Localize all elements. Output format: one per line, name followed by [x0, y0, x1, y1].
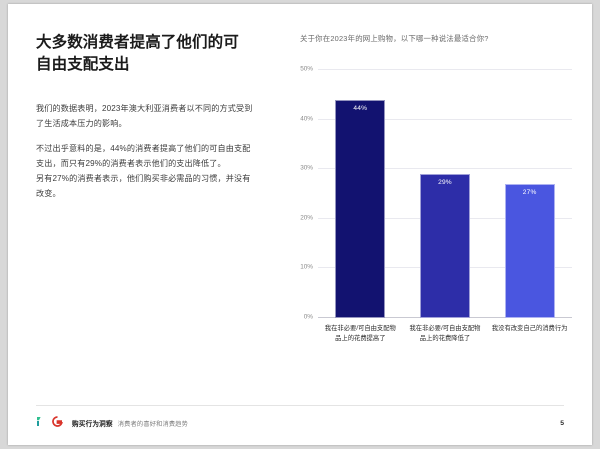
bar-series: 44% 29% 27%	[318, 70, 572, 318]
bar-value-3: 27%	[506, 189, 554, 196]
footer: 购买行为洞察 消费者的喜好和消费趋势 5	[8, 405, 592, 445]
page-number: 5	[560, 420, 564, 427]
bar-value-1: 44%	[336, 105, 384, 112]
footer-divider	[36, 405, 564, 406]
ytick-label-30: 30%	[300, 165, 313, 172]
bar-slot-1: 44%	[318, 70, 403, 318]
left-text-column: 大多数消费者提高了他们的可自由支配支出 我们的数据表明，2023年澳大利亚消费者…	[36, 32, 264, 212]
chart-column: 关于你在2023年的网上购物，以下哪一种说法最适合你? 50% 40% 30% …	[290, 34, 576, 394]
plot-area: 50% 40% 30% 20% 10% 0%	[318, 70, 572, 318]
bar-chart: 50% 40% 30% 20% 10% 0%	[290, 62, 576, 372]
paragraph-2: 不过出乎意料的是，44%的消费者提高了他们的可自由支配支出，而只有29%的消费者…	[36, 142, 255, 171]
bar-increased-spend[interactable]: 44%	[335, 100, 385, 318]
xlabel-2: 我在非必要/可自由支配物品上的花费降低了	[403, 324, 488, 344]
xlabel-1: 我在非必要/可自由支配物品上的花费提高了	[318, 324, 403, 344]
bar-decreased-spend[interactable]: 29%	[420, 174, 470, 318]
slide: 大多数消费者提高了他们的可自由支配支出 我们的数据表明，2023年澳大利亚消费者…	[8, 4, 592, 445]
bar-unchanged-spend[interactable]: 27%	[505, 184, 555, 318]
xlabel-3: 我没有改变自己的消费行为	[487, 324, 572, 344]
footer-subtitle: 消费者的喜好和消费趋势	[118, 419, 188, 428]
bar-slot-3: 27%	[487, 70, 572, 318]
bar-value-2: 29%	[421, 179, 469, 186]
ytick-label-50: 50%	[300, 66, 313, 73]
ytick-label-20: 20%	[300, 214, 313, 221]
paragraph-3: 另有27%的消费者表示，他们购买非必需品的习惯，并没有改变。	[36, 172, 255, 201]
brand-mark-icon	[36, 414, 45, 432]
body-copy: 我们的数据表明，2023年澳大利亚消费者以不同的方式受到了生活成本压力的影响。 …	[36, 102, 255, 201]
bar-slot-2: 29%	[403, 70, 488, 318]
g-logo-icon	[52, 414, 63, 432]
footer-brand-label: 购买行为洞察	[72, 418, 113, 428]
x-axis-labels: 我在非必要/可自由支配物品上的花费提高了 我在非必要/可自由支配物品上的花费降低…	[318, 324, 572, 344]
paragraph-1: 我们的数据表明，2023年澳大利亚消费者以不同的方式受到了生活成本压力的影响。	[36, 102, 255, 131]
chart-title: 关于你在2023年的网上购物，以下哪一种说法最适合你?	[300, 34, 576, 44]
page-title: 大多数消费者提高了他们的可自由支配支出	[36, 32, 251, 76]
ytick-label-10: 10%	[300, 264, 313, 271]
ytick-label-40: 40%	[300, 115, 313, 122]
ytick-label-0: 0%	[304, 314, 313, 321]
